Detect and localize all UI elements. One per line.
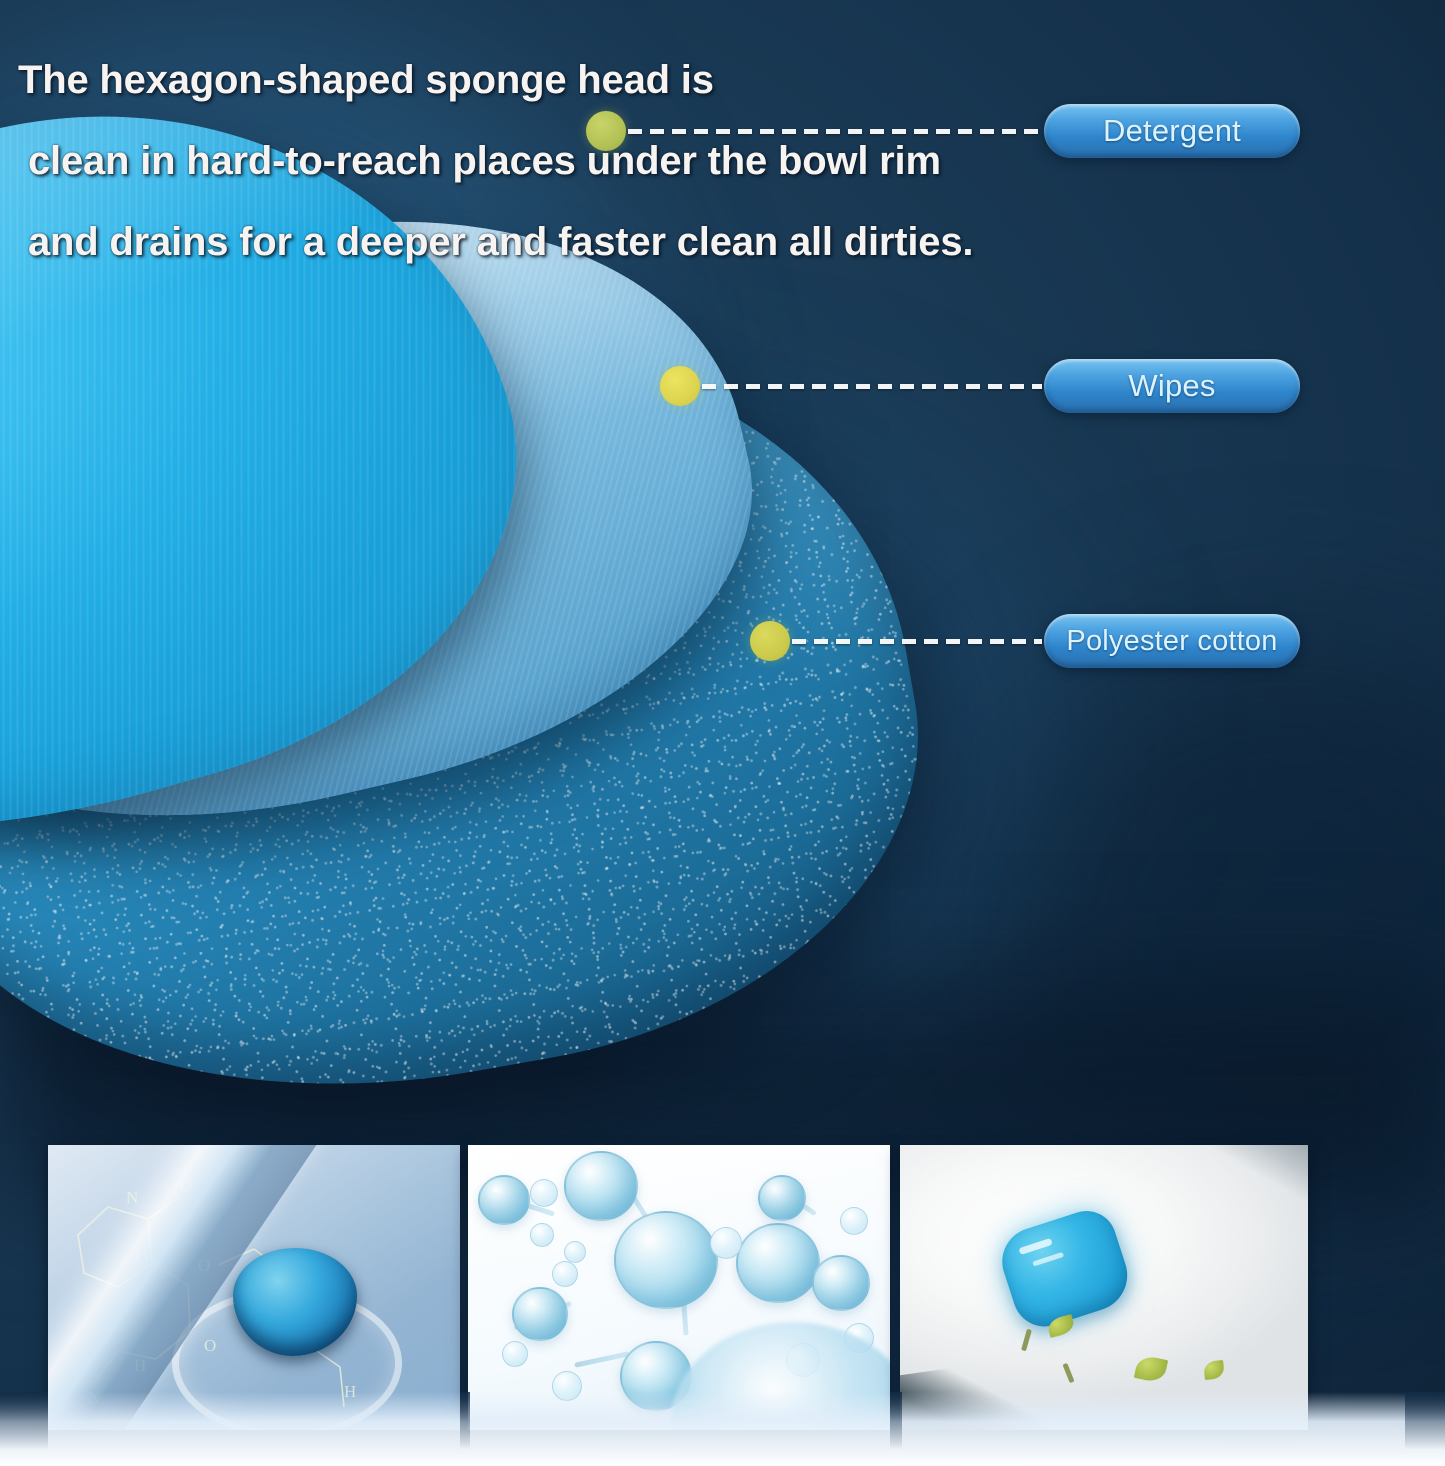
molecule-node-small <box>840 1207 868 1235</box>
callout-label-wipes[interactable]: Wipes <box>1044 359 1300 413</box>
molecule-node-small <box>710 1227 742 1259</box>
molecule-node <box>736 1223 820 1303</box>
callout-dot-icon <box>586 111 626 151</box>
rail-gap-1 <box>460 1392 470 1466</box>
callout-dashed-line <box>702 384 1042 389</box>
callout-dashed-line <box>628 129 1042 134</box>
molecule-node-small <box>530 1179 558 1207</box>
rail-right <box>1405 1392 1445 1466</box>
molecule-node-small <box>552 1261 578 1287</box>
molecule-node-small <box>564 1241 586 1263</box>
molecule-node <box>812 1255 870 1311</box>
photo-pipette-droplet: N O O O N H O H O <box>48 1145 460 1430</box>
photo-molecules <box>468 1145 890 1430</box>
molecule-node-small <box>530 1223 554 1247</box>
photo-strip: N O O O N H O H O <box>0 1145 1445 1430</box>
callout-detergent: Detergent <box>586 104 1300 158</box>
photo-gel-on-toilet <box>900 1145 1308 1430</box>
molecule-node <box>564 1151 638 1221</box>
molecule-node <box>614 1211 718 1309</box>
ambient-glow-right <box>985 640 1445 1200</box>
molecule-node <box>512 1287 568 1341</box>
infographic-canvas: The hexagon-shaped sponge head is clean … <box>0 0 1445 1466</box>
callout-dot-icon <box>660 366 700 406</box>
page-title: The hexagon-shaped sponge head is clean … <box>18 40 1198 283</box>
molecule-node <box>758 1175 806 1221</box>
toilet-edge-top <box>1194 1145 1308 1202</box>
molecule-node <box>478 1175 530 1225</box>
callout-label-detergent[interactable]: Detergent <box>1044 104 1300 158</box>
molecule-node-small <box>502 1341 528 1367</box>
callout-wipes: Wipes <box>660 359 1300 413</box>
rail-left <box>0 1392 48 1466</box>
callout-dashed-line <box>792 639 1042 644</box>
bottom-rails <box>0 1392 1445 1466</box>
callout-label-polyester-cotton[interactable]: Polyester cotton <box>1044 614 1300 668</box>
callout-polyester-cotton: Polyester cotton <box>750 614 1300 668</box>
callout-dot-icon <box>750 621 790 661</box>
rail-gap-2 <box>890 1392 902 1466</box>
headline-line-3: and drains for a deeper and faster clean… <box>18 202 1198 283</box>
